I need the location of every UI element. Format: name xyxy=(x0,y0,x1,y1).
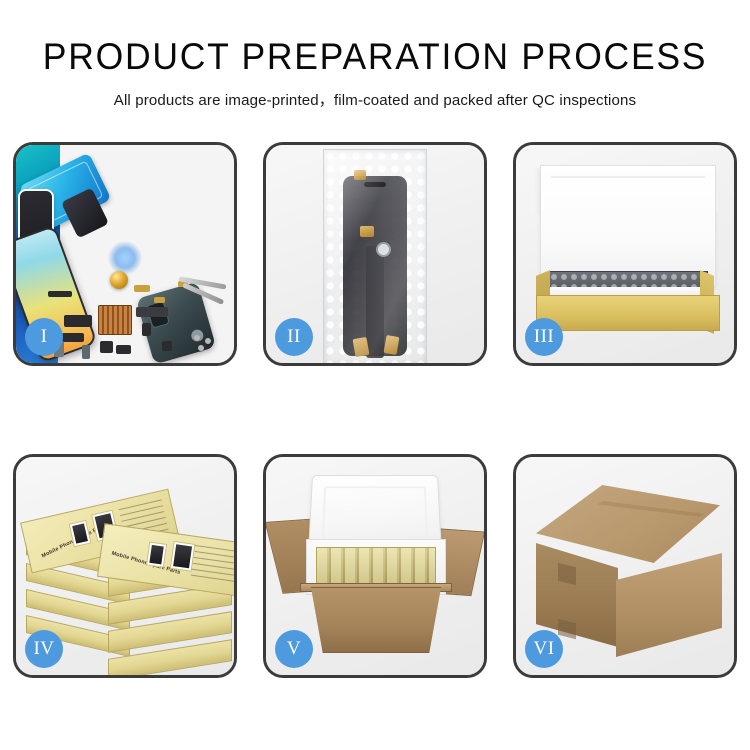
gold-tab-graphic xyxy=(360,226,374,237)
carton-top-graphic xyxy=(536,485,720,563)
step-badge-5: V xyxy=(275,630,313,668)
small-part-graphic xyxy=(154,297,165,303)
process-step-panel-5[interactable]: V xyxy=(263,454,487,678)
process-step-panel-1[interactable]: I xyxy=(13,142,237,366)
step-badge-6: VI xyxy=(525,630,563,668)
small-part-graphic xyxy=(142,323,151,336)
carton-body-graphic xyxy=(302,587,450,653)
page-subtitle: All products are image-printed，film-coat… xyxy=(4,88,747,110)
process-step-panel-3[interactable]: III xyxy=(513,142,737,366)
small-part-graphic xyxy=(134,285,150,292)
screws-graphic xyxy=(194,335,218,351)
flex-cable-graphic xyxy=(366,246,384,358)
box-spec-lines-graphic xyxy=(191,545,237,583)
small-part-graphic xyxy=(48,291,72,297)
step-badge-3: III xyxy=(525,318,563,356)
small-part-graphic xyxy=(116,345,131,354)
packed-boxes-graphic xyxy=(316,547,436,587)
small-part-graphic xyxy=(162,341,172,351)
process-step-panel-6[interactable]: VI xyxy=(513,454,737,678)
process-step-panel-2[interactable]: II xyxy=(263,142,487,366)
step-badge-2: II xyxy=(275,318,313,356)
process-step-grid: I II xyxy=(13,142,737,678)
step-badge-1: I xyxy=(25,318,63,356)
process-step-panel-4[interactable]: Mobile Phone Spare Parts Mobile Phone Sp… xyxy=(13,454,237,678)
bubble-wrap-graphic xyxy=(323,149,427,365)
small-part-graphic xyxy=(100,341,113,353)
carton-tape-graphic xyxy=(558,619,576,639)
page-title: PRODUCT PREPARATION PROCESS xyxy=(15,38,735,75)
small-part-graphic xyxy=(82,345,90,359)
step-badge-4: IV xyxy=(25,630,63,668)
box-lid-graphic xyxy=(540,165,716,287)
gold-tab-graphic xyxy=(354,170,366,180)
box-front-graphic xyxy=(536,295,720,331)
small-part-graphic xyxy=(62,333,84,342)
small-part-graphic xyxy=(64,315,92,327)
carton-right-face-graphic xyxy=(616,553,722,657)
box-thumbnail-graphic xyxy=(146,542,167,568)
product-preparation-infographic: PRODUCT PREPARATION PROCESS All products… xyxy=(0,0,750,750)
gold-tab-graphic xyxy=(353,337,370,357)
header: PRODUCT PREPARATION PROCESS All products… xyxy=(0,0,750,110)
home-button-graphic xyxy=(376,242,391,257)
gold-component-graphic xyxy=(110,271,128,289)
chip-grid-graphic xyxy=(98,305,132,335)
small-part-graphic xyxy=(136,307,168,317)
